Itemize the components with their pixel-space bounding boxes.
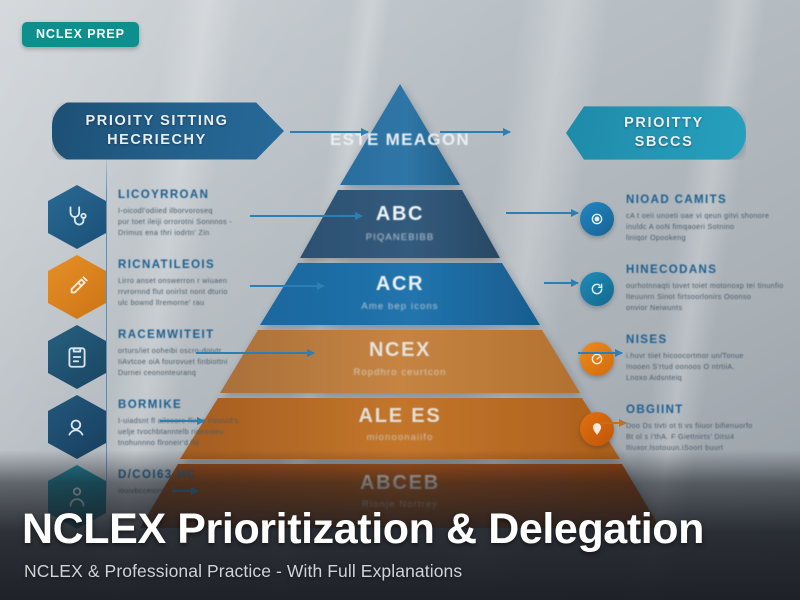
left-item-4-text: BORMIKE I-uiadsnt fl ailecore fliroe rre…: [118, 395, 308, 448]
left-item-2-text: RICNATILEOIS Lirro anset onswerron r wiu…: [118, 255, 308, 308]
arrow-left-1: [250, 215, 362, 217]
left-item-2-line3: ulc bownd llremorne' rau: [118, 297, 308, 308]
pyramid-tier-3-label: ACR: [376, 273, 424, 295]
right-item-1[interactable]: NIOAD CAMITS cA t oeii unoeti oae vi qeu…: [580, 190, 800, 243]
right-item-2-body: ourhotnnaqti tovet toiet motonoxp tei ti…: [626, 280, 800, 313]
left-item-1-line2: pur toet ileiji orrorotni Sonnnos -: [118, 216, 308, 227]
arrow-pyramid-to-banner-right: [440, 131, 510, 133]
left-item-1[interactable]: LICOYRROAN I-oicodl'odiied ilborvoroseq …: [48, 185, 348, 249]
left-item-1-title: LICOYRROAN: [118, 189, 308, 201]
arrow-right-4: [600, 422, 626, 424]
right-item-3-line2: Inooen S'rtud oonoos O ntrtiiA.: [626, 361, 800, 372]
page-title: NCLEX Prioritization & Delegation: [22, 505, 704, 554]
pyramid-tier-2-label: ABC: [376, 203, 424, 225]
right-item-3-line1: i.huvr tiiet hicoocortmor un/Tonue: [626, 350, 800, 361]
pin-icon: [580, 412, 614, 446]
pyramid-tier-3-sub: Ame bep icons: [361, 301, 438, 312]
stethoscope-icon: [48, 185, 106, 249]
right-item-1-line3: liniqor Opookeng: [626, 232, 800, 243]
arrow-left-2: [250, 285, 324, 287]
pyramid-tier-5-label: ALE ES: [358, 405, 441, 427]
left-item-3-title: RACEMWITEIT: [118, 329, 308, 341]
left-item-3-line2: IiAvtcoe oiA fourovuet finbiottni: [118, 356, 308, 367]
right-item-1-text: NIOAD CAMITS cA t oeii unoeti oae vi qeu…: [626, 190, 800, 243]
right-item-1-title: NIOAD CAMITS: [626, 194, 800, 206]
pyramid-tier-4-sub: Ropdhro ceurtcon: [353, 367, 446, 378]
target-icon: [580, 202, 614, 236]
right-item-3-body: i.huvr tiiet hicoocortmor un/Tonue Inooe…: [626, 350, 800, 383]
left-item-2-body: Lirro anset onswerron r wiuaen rrvrornnd…: [118, 275, 308, 308]
right-item-4-line2: Bt ol s i'thA. F Giettnirts' Ditsi4: [626, 431, 800, 442]
pyramid-tier-2-sub: PIQANEBIBB: [366, 232, 435, 243]
left-item-3[interactable]: RACEMWITEIT orturs/iet ooheibi oscro-doi…: [48, 325, 348, 389]
left-item-1-text: LICOYRROAN I-oicodl'odiied ilborvoroseq …: [118, 185, 308, 238]
pyramid-tier-4-label: NCEX: [369, 339, 431, 361]
right-item-1-line2: inuldc A ooN fimqaoeri Sotnino: [626, 221, 800, 232]
right-item-4-body: Doo Ds tivti ot ti vs fiiuor bifienuorfo…: [626, 420, 800, 453]
right-item-3-title: NISES: [626, 334, 800, 346]
right-item-2[interactable]: HINECODANS ourhotnnaqti tovet toiet moto…: [580, 260, 800, 313]
right-item-3-line3: Lnoxo Aidsnteiq: [626, 372, 800, 383]
left-item-4-line1: I-uiadsnt fl ailecore fliroe rreuuid's: [118, 415, 308, 426]
left-item-1-body: I-oicodl'odiied ilborvoroseq pur toet il…: [118, 205, 308, 238]
right-item-3[interactable]: NISES i.huvr tiiet hicoocortmor un/Tonue…: [580, 330, 800, 383]
right-item-2-line2: lteuunrn Sinot firtsoorlonirs Ooonso: [626, 291, 800, 302]
left-item-2-line2: rrvrornnd flut onirlst nont dturio: [118, 286, 308, 297]
left-item-4-body: I-uiadsnt fl ailecore fliroe rreuuid's u…: [118, 415, 308, 448]
syringe-icon: [48, 255, 106, 319]
arrow-left-4: [160, 420, 204, 422]
right-item-4-text: OBGIINT Doo Ds tivti ot ti vs fiiuor bif…: [626, 400, 800, 453]
right-item-4-title: OBGIINT: [626, 404, 800, 416]
pyramid-tier-1-label: ESTE MEAGON: [330, 130, 470, 149]
right-item-2-line1: ourhotnnaqti tovet toiet motonoxp tei ti…: [626, 280, 800, 291]
left-item-4-title: BORMIKE: [118, 399, 308, 411]
right-item-1-line1: cA t oeii unoeti oae vi qeun gitvi shono…: [626, 210, 800, 221]
arrow-left-3: [196, 352, 314, 354]
left-item-2[interactable]: RICNATILEOIS Lirro anset onswerron r wiu…: [48, 255, 348, 319]
right-item-2-text: HINECODANS ourhotnnaqti tovet toiet moto…: [626, 260, 800, 313]
left-item-3-body: orturs/iet ooheibi oscro-doivtr IiAvtcoe…: [118, 345, 308, 378]
left-item-1-line3: Drimus ena thri iodrtn' Zin: [118, 227, 308, 238]
refresh-icon: [580, 272, 614, 306]
left-item-4-line2: uelje tvochbtanntelb rioessteu: [118, 426, 308, 437]
left-item-4-line3: tnohunnno flroneir'd foi: [118, 437, 308, 448]
clipboard-icon: [48, 325, 106, 389]
left-item-3-line3: Durnei ceononteuranq: [118, 367, 308, 378]
pyramid-tier-5-sub: mionoonaiifo: [366, 432, 433, 443]
arrow-right-2: [544, 282, 578, 284]
right-item-2-title: HINECODANS: [626, 264, 800, 276]
nclex-prep-badge[interactable]: NCLEX PREP: [22, 22, 139, 47]
arrow-right-3: [578, 352, 622, 354]
right-item-4-line1: Doo Ds tivti ot ti vs fiiuor bifienuorfo: [626, 420, 800, 431]
right-item-4[interactable]: OBGIINT Doo Ds tivti ot ti vs fiiuor bif…: [580, 400, 800, 453]
right-item-2-line3: onvior Neiwunts: [626, 302, 800, 313]
right-item-3-text: NISES i.huvr tiiet hicoocortmor un/Tonue…: [626, 330, 800, 383]
page-subtitle: NCLEX & Professional Practice - With Ful…: [24, 561, 462, 582]
left-item-2-title: RICNATILEOIS: [118, 259, 308, 271]
right-item-1-body: cA t oeii unoeti oae vi qeun gitvi shono…: [626, 210, 800, 243]
left-item-3-line1: orturs/iet ooheibi oscro-doivtr: [118, 345, 308, 356]
gauge-icon: [580, 342, 614, 376]
arrow-right-1: [506, 212, 578, 214]
